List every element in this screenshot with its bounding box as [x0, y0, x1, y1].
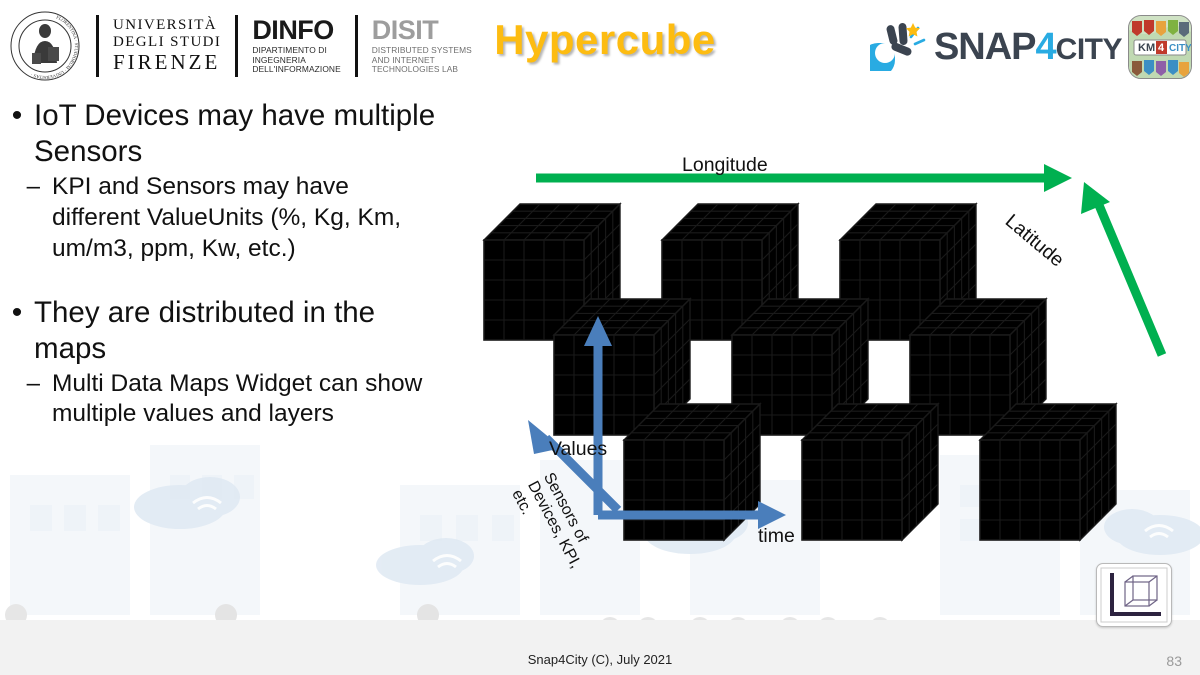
bullet-level1-0-text: IoT Devices may have multiple Sensors: [34, 98, 454, 170]
slide: FLORENTINA · STUDIORUM · UNIVERSITAS · U…: [0, 0, 1200, 675]
dinfo-acronym: DINFO: [252, 17, 340, 44]
university-name: UNIVERSITÀ DEGLI STUDI FIRENZE: [113, 17, 221, 74]
brand-four: 4: [1036, 26, 1056, 68]
axes-cube-icon[interactable]: [1096, 563, 1172, 627]
sub-bullet-marker: –: [0, 172, 52, 265]
app-icon-city: CITY: [1169, 43, 1191, 54]
slide-header: FLORENTINA · STUDIORUM · UNIVERSITAS · U…: [0, 0, 1200, 92]
bullet-level2-1-text: Multi Data Maps Widget can show multiple…: [52, 369, 440, 431]
university-line-3: FIRENZE: [113, 51, 221, 75]
logo-divider-2: [235, 15, 238, 77]
bullet-level1-1-text: They are distributed in the maps: [34, 295, 454, 367]
axis-label-time: time: [758, 525, 795, 548]
page-title: Hypercube: [430, 16, 780, 64]
slide-body: • IoT Devices may have multiple Sensors …: [0, 98, 500, 430]
logo-divider-3: [355, 15, 358, 77]
snap4city-brand: SNAP4CITY: [870, 12, 1192, 82]
bullet-level1-0: • IoT Devices may have multiple Sensors: [0, 98, 500, 170]
bullet-level2-0: – KPI and Sensors may have different Val…: [0, 172, 500, 265]
cube-front-1-highlighted: [624, 404, 760, 540]
logo-divider-1: [96, 15, 99, 77]
latitude-arrow: [1081, 182, 1162, 355]
disit-sub-3: TECHNOLOGIES LAB: [372, 65, 472, 75]
bullet-marker: •: [0, 295, 34, 367]
longitude-arrow: [536, 164, 1072, 192]
institution-logos: FLORENTINA · STUDIORUM · UNIVERSITAS · U…: [8, 6, 472, 86]
bullet-level2-1: – Multi Data Maps Widget can show multip…: [0, 369, 500, 431]
people-group-icon: [0, 604, 894, 657]
university-line-2: DEGLI STUDI: [113, 34, 221, 51]
bullet-spacer: [0, 265, 500, 295]
footer-copyright: Snap4City (C), July 2021: [0, 652, 1200, 667]
app-icon-four: 4: [1158, 42, 1165, 54]
cube-front-2-highlighted: [802, 404, 938, 540]
hypercube-diagram: .cube-white .cf{fill:#ffffff;} .cube-gra…: [470, 150, 1200, 580]
cube-front-3: [980, 404, 1116, 540]
university-line-1: UNIVERSITÀ: [113, 17, 221, 34]
bullet-level2-0-text: KPI and Sensors may have different Value…: [52, 172, 440, 265]
bullet-marker: •: [0, 98, 34, 170]
brand-snap: SNAP: [934, 26, 1036, 68]
unifi-seal-icon: FLORENTINA · STUDIORUM · UNIVERSITAS ·: [8, 9, 82, 83]
dinfo-logo: DINFO DIPARTIMENTO DI INGEGNERIA DELL'IN…: [252, 17, 340, 76]
axis-label-values: Values: [549, 438, 607, 461]
page-number: 83: [1166, 653, 1182, 669]
km4city-app-icon[interactable]: KM 4 CITY: [1128, 15, 1192, 79]
app-icon-km: KM: [1138, 42, 1155, 54]
sub-bullet-marker: –: [0, 369, 52, 431]
snap4city-hand-icon: [870, 19, 928, 76]
axis-label-longitude: Longitude: [682, 154, 768, 177]
snap4city-wordmark: SNAP4CITY: [934, 28, 1122, 66]
brand-city: CITY: [1056, 33, 1122, 66]
bullet-level1-1: • They are distributed in the maps: [0, 295, 500, 367]
dinfo-sub-3: DELL'INFORMAZIONE: [252, 65, 340, 75]
